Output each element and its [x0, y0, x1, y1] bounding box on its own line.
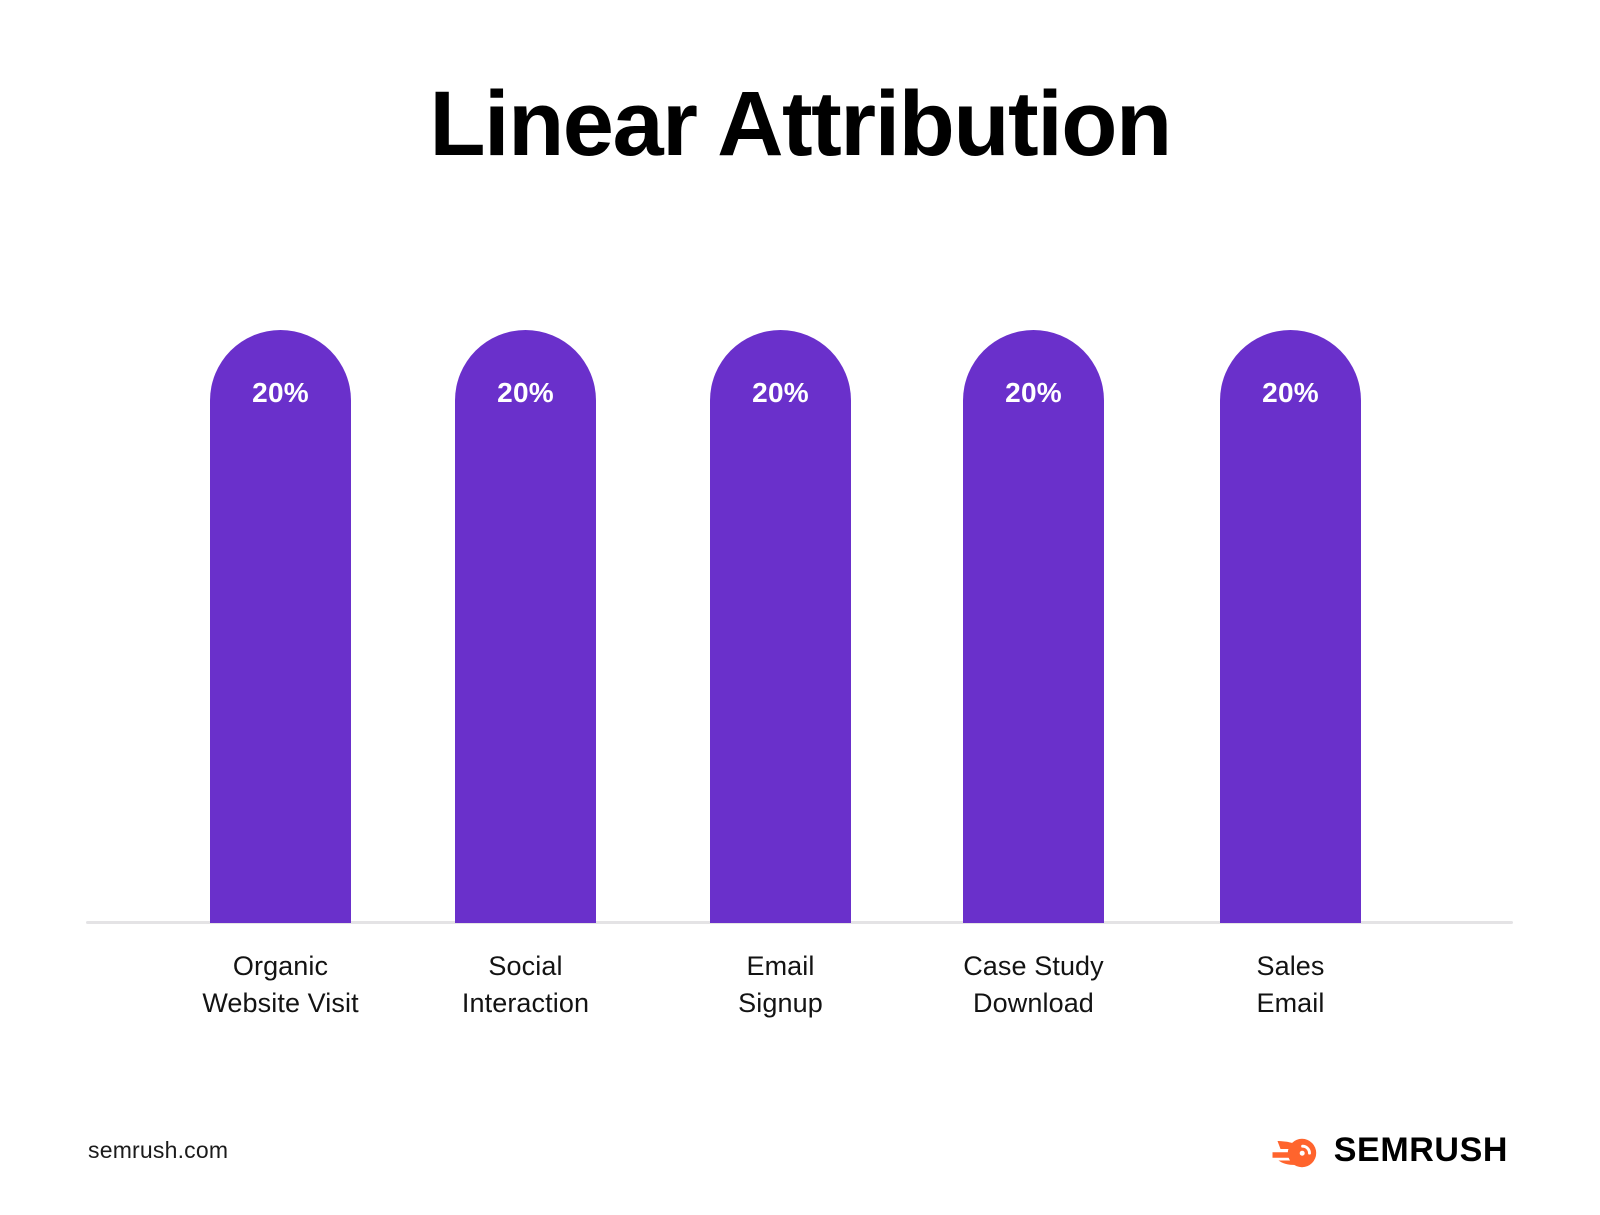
bar-shape: [1220, 330, 1361, 923]
category-label-line-2: Signup: [650, 985, 911, 1022]
bars-container: 20% 20% 20% 20% 20%: [0, 0, 1600, 1215]
category-label-line-2: Email: [1160, 985, 1421, 1022]
bar-shape: [963, 330, 1104, 923]
category-label-line-2: Download: [903, 985, 1164, 1022]
category-label-line-1: Social: [395, 948, 656, 985]
category-label-organic-website-visit: Organic Website Visit: [150, 948, 411, 1022]
category-label-social-interaction: Social Interaction: [395, 948, 656, 1022]
category-label-line-1: Case Study: [903, 948, 1164, 985]
source-url: semrush.com: [88, 1136, 228, 1164]
bar-shape: [455, 330, 596, 923]
bar-group-case-study-download[interactable]: 20%: [963, 330, 1104, 923]
bar-shape: [710, 330, 851, 923]
category-label-line-2: Interaction: [395, 985, 656, 1022]
bar-value-label: 20%: [1220, 377, 1361, 409]
linear-attribution-infographic: Linear Attribution 20% 20% 20% 2: [0, 0, 1600, 1215]
semrush-wordmark: SEMRUSH: [1334, 1132, 1508, 1168]
bar-shape: [210, 330, 351, 923]
category-label-case-study-download: Case Study Download: [903, 948, 1164, 1022]
category-label-line-2: Website Visit: [150, 985, 411, 1022]
bar-group-social-interaction[interactable]: 20%: [455, 330, 596, 923]
category-label-sales-email: Sales Email: [1160, 948, 1421, 1022]
semrush-comet-icon: [1271, 1132, 1321, 1168]
category-label-line-1: Organic: [150, 948, 411, 985]
bar-value-label: 20%: [455, 377, 596, 409]
bar-value-label: 20%: [210, 377, 351, 409]
bar-chart: 20% 20% 20% 20% 20%: [0, 0, 1600, 1215]
category-label-line-1: Sales: [1160, 948, 1421, 985]
category-label-line-1: Email: [650, 948, 911, 985]
bar-value-label: 20%: [963, 377, 1104, 409]
bar-group-organic-website-visit[interactable]: 20%: [210, 330, 351, 923]
semrush-logo: SEMRUSH: [1271, 1128, 1508, 1172]
category-label-email-signup: Email Signup: [650, 948, 911, 1022]
bar-value-label: 20%: [710, 377, 851, 409]
bar-group-email-signup[interactable]: 20%: [710, 330, 851, 923]
bar-group-sales-email[interactable]: 20%: [1220, 330, 1361, 923]
